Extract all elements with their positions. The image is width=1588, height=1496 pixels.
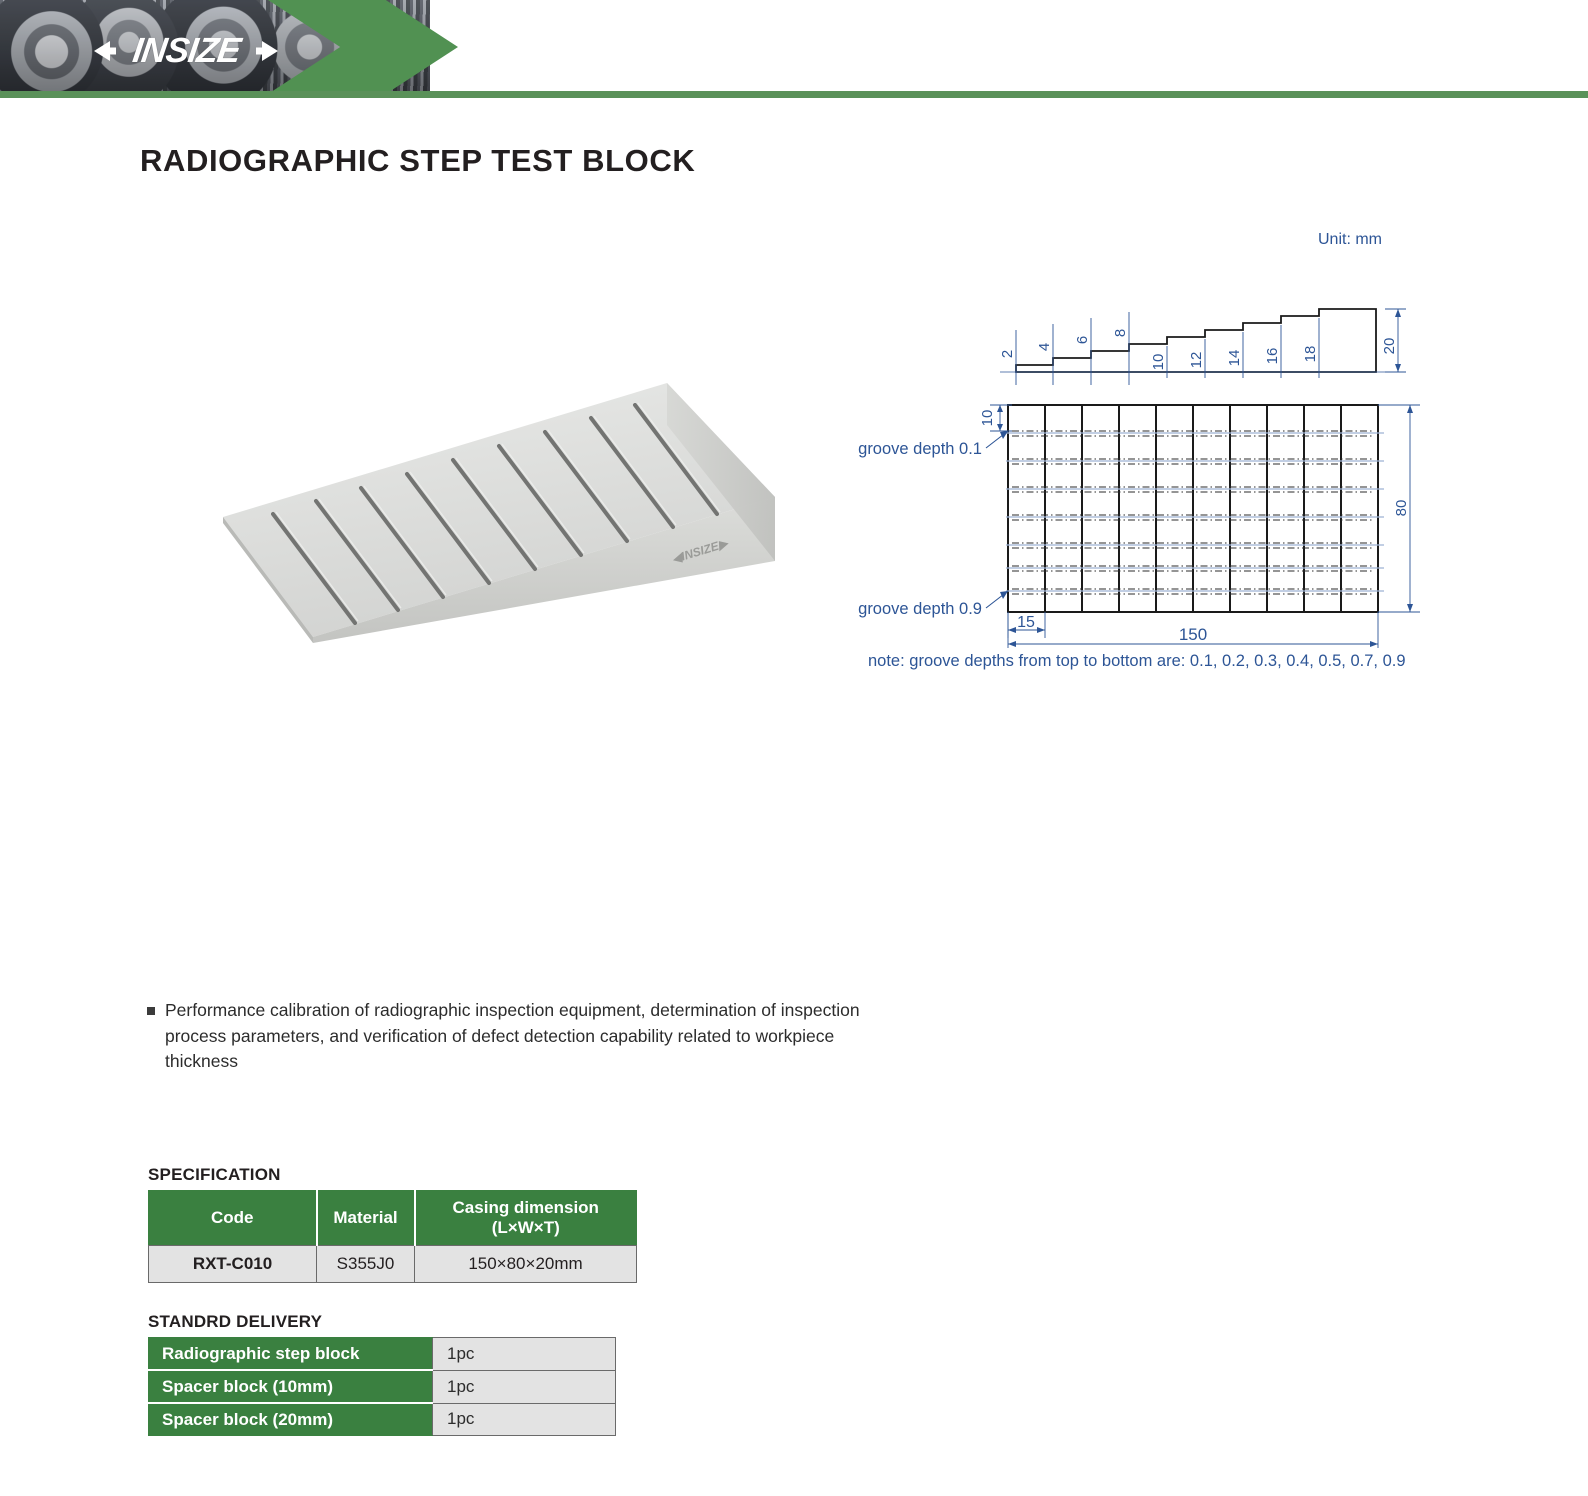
dim-step-8: 8	[1112, 329, 1129, 337]
list-item: Performance calibration of radiographic …	[147, 998, 907, 1075]
cell-item-name: Radiographic step block	[148, 1338, 433, 1371]
dim-step-2: 2	[999, 350, 1016, 358]
cell-code: RXT-C010	[149, 1246, 317, 1283]
specification-heading: SPECIFICATION	[148, 1165, 281, 1185]
annotation-groove-depth-top: groove depth 0.1	[858, 440, 982, 458]
header-green-rule	[0, 91, 1588, 98]
page-header: INSIZE	[0, 0, 1588, 98]
table-row: Radiographic step block 1pc	[148, 1338, 616, 1371]
dim-step-14: 14	[1226, 350, 1243, 367]
cell-material: S355J0	[317, 1246, 415, 1283]
logo-left-bar-icon	[106, 48, 116, 55]
table-row: Spacer block (20mm) 1pc	[148, 1403, 616, 1436]
cell-item-name: Spacer block (10mm)	[148, 1370, 433, 1403]
feature-text: Performance calibration of radiographic …	[165, 998, 907, 1075]
dim-step-12: 12	[1188, 352, 1205, 369]
features-list: Performance calibration of radiographic …	[147, 998, 907, 1075]
column-header-casing-dimension: Casing dimension (L×W×T)	[415, 1191, 637, 1246]
unit-label: Unit: mm	[1318, 231, 1382, 249]
product-photo: ◀INSIZE▶	[215, 365, 790, 645]
dim-step-10: 10	[1150, 354, 1167, 371]
casing-dimension-line1: Casing dimension	[420, 1198, 633, 1218]
logo-wordmark: INSIZE	[130, 31, 242, 71]
dim-step-6: 6	[1074, 336, 1091, 344]
table-header-row: Code Material Casing dimension (L×W×T)	[149, 1191, 637, 1246]
dim-plan-length-150: 150	[1179, 625, 1207, 644]
cell-casing-dimension: 150×80×20mm	[415, 1246, 637, 1283]
dim-step-16: 16	[1264, 348, 1281, 365]
bullet-square-icon	[147, 1007, 155, 1015]
table-row: Spacer block (10mm) 1pc	[148, 1370, 616, 1403]
standard-delivery-heading: STANDRD DELIVERY	[148, 1312, 322, 1332]
casing-dimension-line2: (L×W×T)	[420, 1218, 633, 1238]
column-header-code: Code	[149, 1191, 317, 1246]
cell-item-qty: 1pc	[433, 1338, 616, 1371]
dim-plan-top-10: 10	[979, 410, 996, 427]
drawing-note: note: groove depths from top to bottom a…	[868, 652, 1406, 671]
dim-plan-first-15: 15	[1017, 614, 1035, 631]
dim-step-4: 4	[1036, 343, 1053, 351]
dim-plan-width-80: 80	[1393, 500, 1410, 517]
technical-drawing: 2 4 6 8 10 12 14 16 18 20	[840, 290, 1460, 650]
standard-delivery-table: Radiographic step block 1pc Spacer block…	[148, 1337, 616, 1436]
cell-item-name: Spacer block (20mm)	[148, 1403, 433, 1436]
specification-table: Code Material Casing dimension (L×W×T) R…	[148, 1190, 637, 1283]
table-row: RXT-C010 S355J0 150×80×20mm	[149, 1246, 637, 1283]
annotation-groove-depth-bottom: groove depth 0.9	[858, 600, 982, 618]
page-title: RADIOGRAPHIC STEP TEST BLOCK	[140, 143, 695, 179]
insize-logo: INSIZE	[96, 30, 276, 72]
cell-item-qty: 1pc	[433, 1370, 616, 1403]
dim-step-18: 18	[1302, 346, 1319, 363]
logo-right-arrow-icon	[262, 41, 278, 61]
column-header-material: Material	[317, 1191, 415, 1246]
dim-step-20: 20	[1381, 338, 1398, 355]
cell-item-qty: 1pc	[433, 1403, 616, 1436]
